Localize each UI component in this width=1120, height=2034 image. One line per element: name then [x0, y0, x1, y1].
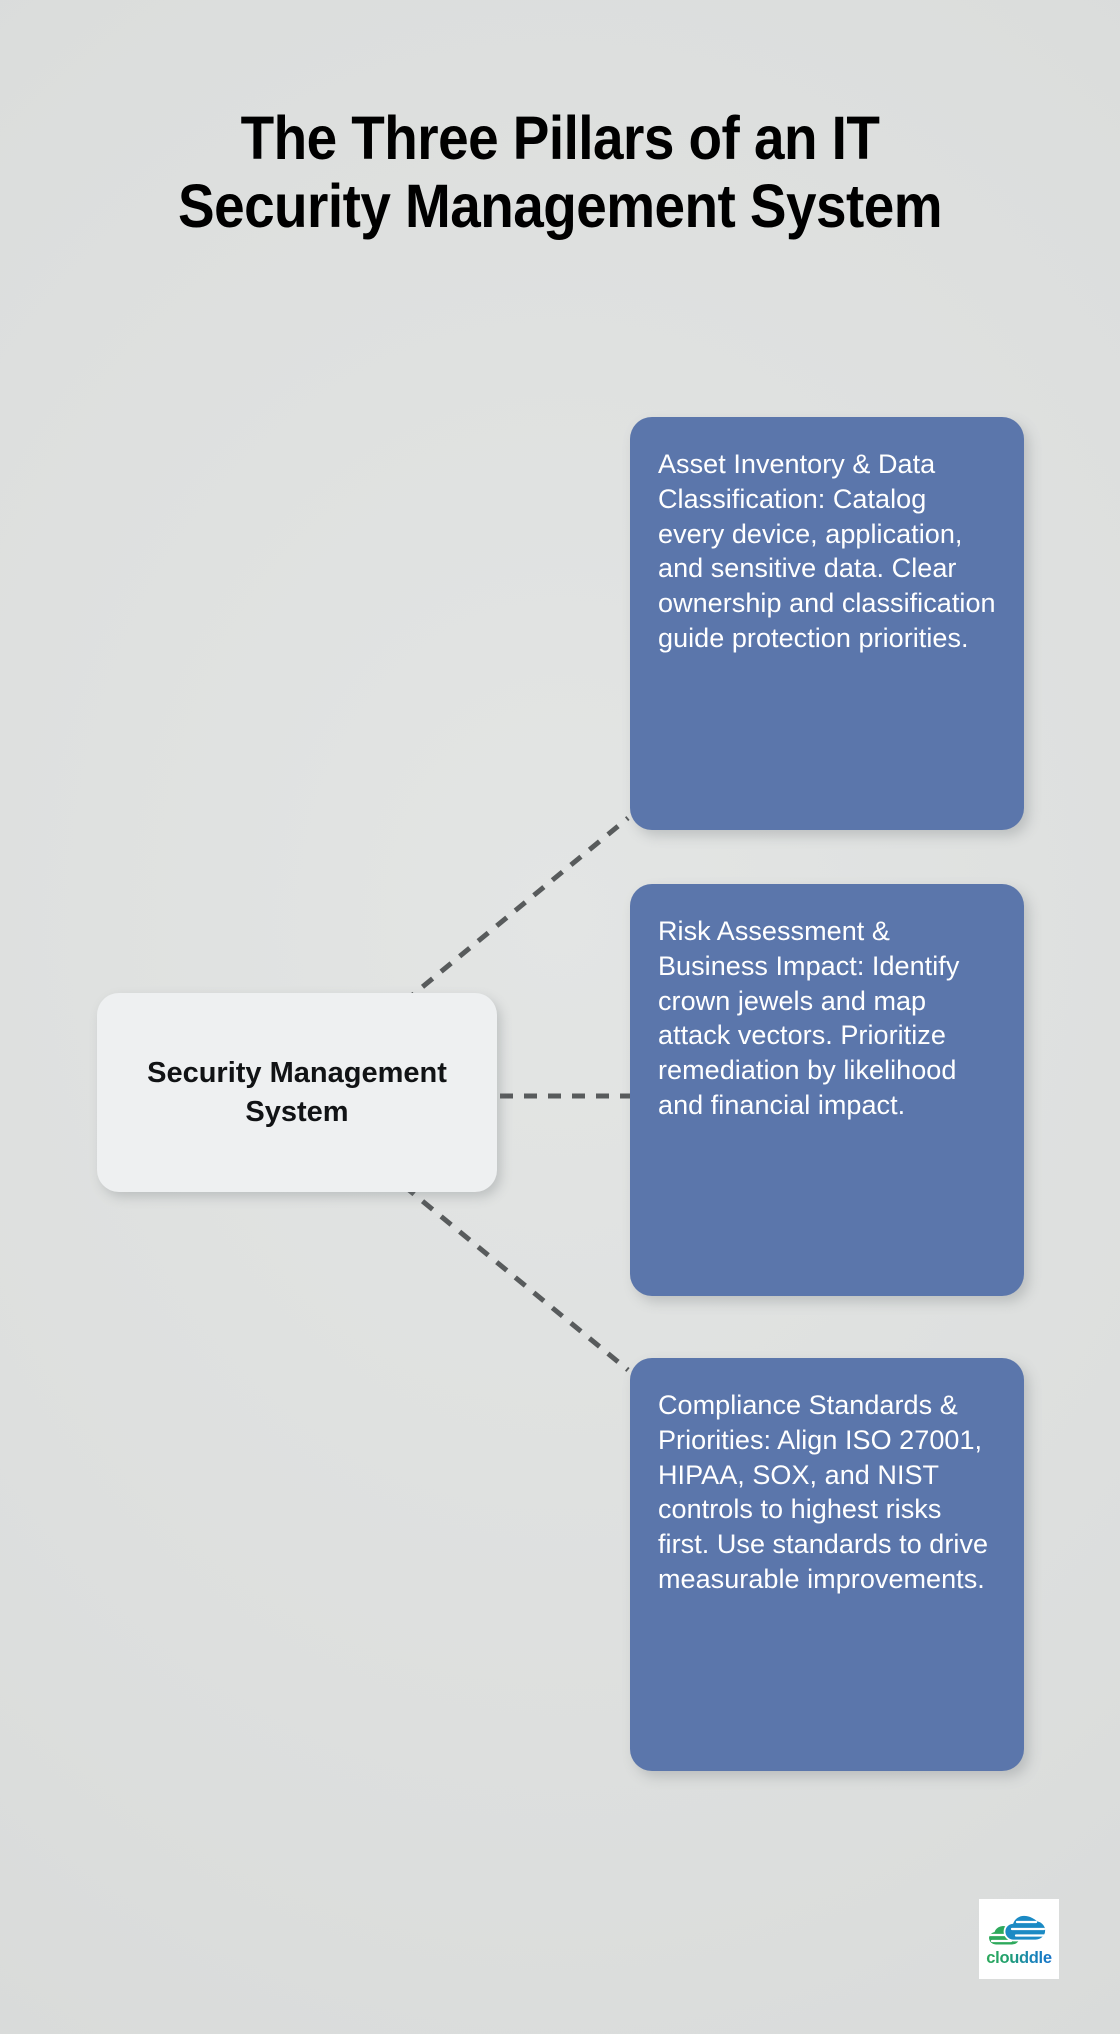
center-hub-label: Security Management System	[97, 1054, 497, 1131]
connector-line-top	[404, 818, 628, 1002]
connector-line-bottom	[404, 1186, 628, 1370]
pillar-card-text: Compliance Standards & Priorities: Align…	[658, 1388, 996, 1597]
brand-logo-badge[interactable]: clouddle	[979, 1899, 1059, 1979]
pillar-card-compliance-standards[interactable]: Compliance Standards & Priorities: Align…	[630, 1358, 1024, 1771]
pillar-card-risk-assessment[interactable]: Risk Assessment & Business Impact: Ident…	[630, 884, 1024, 1296]
pillar-card-text: Risk Assessment & Business Impact: Ident…	[658, 914, 996, 1123]
double-cloud-icon	[988, 1911, 1050, 1949]
page-title: The Three Pillars of an IT Security Mana…	[128, 104, 992, 241]
poster-title-wrap: The Three Pillars of an IT Security Mana…	[0, 104, 1120, 241]
pillar-card-text: Asset Inventory & Data Classification: C…	[658, 447, 996, 656]
center-hub-node[interactable]: Security Management System	[97, 993, 497, 1192]
pillar-card-asset-inventory[interactable]: Asset Inventory & Data Classification: C…	[630, 417, 1024, 830]
infographic-poster: The Three Pillars of an IT Security Mana…	[0, 0, 1120, 2034]
brand-wordmark: clouddle	[986, 1950, 1051, 1967]
